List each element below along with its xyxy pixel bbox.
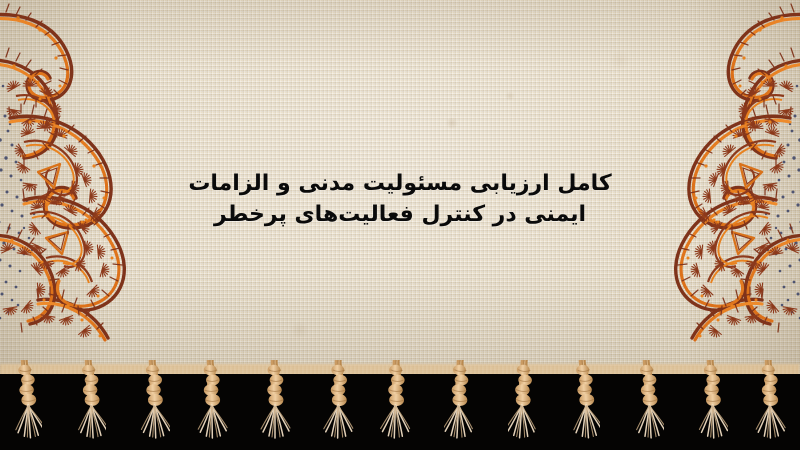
- tassel-icon: [322, 360, 356, 450]
- title-line-2: ایمنی در کنترل فعالیت‌های پرخطر: [0, 199, 800, 230]
- tassel-icon: [380, 360, 414, 450]
- banner-title: کامل ارزیابی مسئولیت مدنی و الزامات ایمن…: [0, 168, 800, 230]
- tassel-icon: [444, 360, 478, 450]
- tassel-icon: [72, 360, 106, 450]
- tassel-icon: [258, 360, 292, 450]
- tassel-icon: [508, 360, 542, 450]
- title-line-1: کامل ارزیابی مسئولیت مدنی و الزامات: [0, 168, 800, 199]
- tassel-icon: [136, 360, 170, 450]
- tassel-icon: [630, 360, 664, 450]
- tassel-icon: [752, 360, 786, 450]
- banner-canvas: کامل ارزیابی مسئولیت مدنی و الزامات ایمن…: [0, 0, 800, 450]
- tassel-fringe: [0, 360, 800, 450]
- tassel-icon: [694, 360, 728, 450]
- tassel-icon: [8, 360, 42, 450]
- tassel-icon: [194, 360, 228, 450]
- tassel-icon: [566, 360, 600, 450]
